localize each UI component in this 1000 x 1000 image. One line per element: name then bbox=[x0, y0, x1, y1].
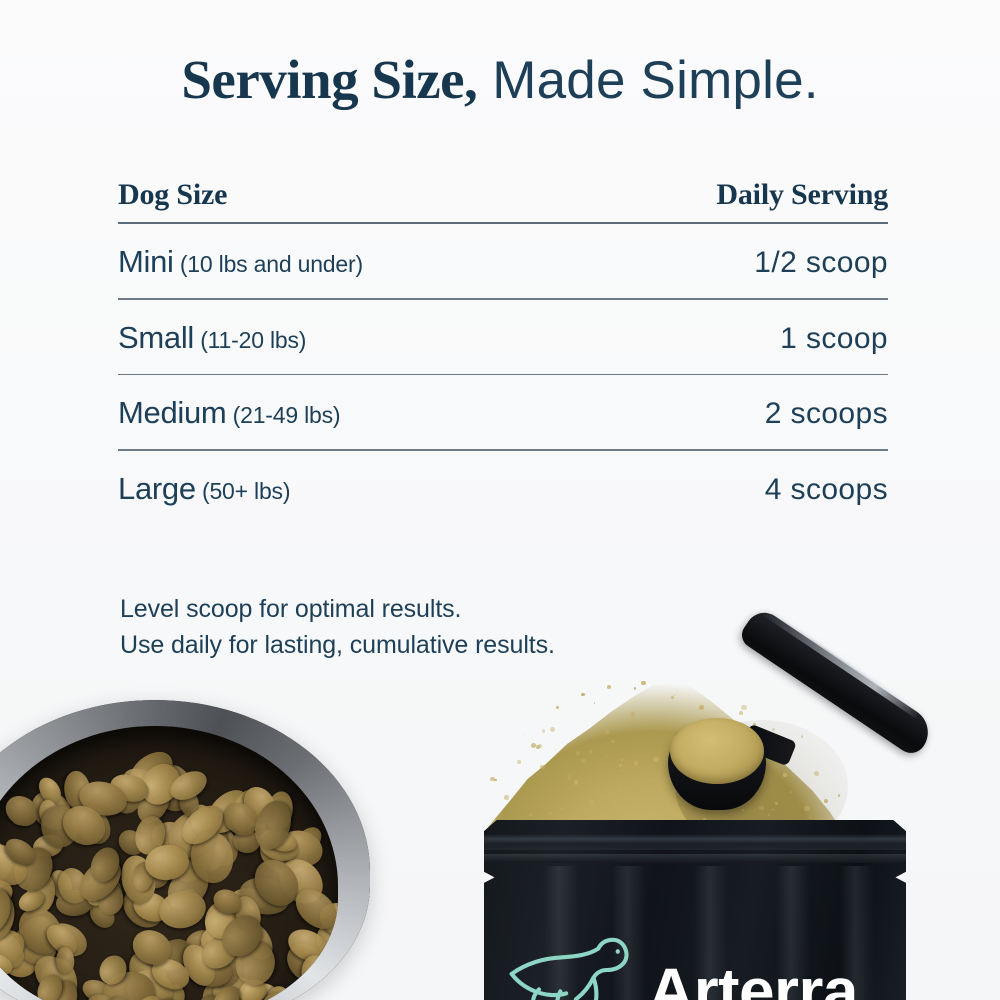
table-header-row: Dog Size Daily Serving bbox=[118, 178, 888, 222]
table-row: Small (11-20 lbs) 1 scoop bbox=[118, 300, 888, 374]
daily-serving-cell: 1/2 scoop bbox=[754, 246, 888, 280]
powder-speck bbox=[550, 727, 555, 732]
powder-speck bbox=[540, 765, 544, 769]
dog-size-range: (21-49 lbs) bbox=[226, 402, 340, 428]
column-header-dog-size: Dog Size bbox=[118, 178, 227, 212]
dog-size-range: (11-20 lbs) bbox=[194, 327, 306, 353]
powder-speck bbox=[581, 693, 584, 696]
column-header-daily-serving: Daily Serving bbox=[716, 178, 888, 212]
dog-size-cell: Small (11-20 lbs) bbox=[118, 320, 306, 356]
dog-size-name: Medium bbox=[118, 395, 226, 430]
pouch-top-seal bbox=[484, 834, 906, 850]
powder-speck bbox=[634, 719, 637, 722]
usage-note-line: Use daily for lasting, cumulative result… bbox=[120, 628, 555, 664]
kibble-pile bbox=[0, 756, 338, 1000]
powder-speck bbox=[594, 702, 595, 703]
page-title-bold: Serving Size, bbox=[181, 49, 477, 110]
usage-notes: Level scoop for optimal results. Use dai… bbox=[120, 592, 555, 663]
powder-speck bbox=[542, 729, 545, 732]
daily-serving-cell: 2 scoops bbox=[765, 397, 888, 431]
powder-speck bbox=[621, 759, 623, 761]
pouch-second-seal bbox=[484, 854, 906, 863]
page-title: Serving Size, Made Simple. bbox=[0, 52, 1000, 107]
serving-size-table: Dog Size Daily Serving Mini (10 lbs and … bbox=[118, 178, 888, 525]
page-title-light: Made Simple. bbox=[477, 51, 818, 110]
powder-speck bbox=[636, 759, 637, 760]
dog-line-art-icon bbox=[500, 931, 646, 1000]
dog-size-name: Mini bbox=[118, 244, 174, 279]
serving-size-infographic: Serving Size, Made Simple. Dog Size Dail… bbox=[0, 0, 1000, 1000]
dog-bowl-photo bbox=[0, 700, 370, 1000]
powder-speck bbox=[504, 795, 509, 800]
usage-note-line: Level scoop for optimal results. bbox=[120, 592, 555, 628]
powder-speck bbox=[622, 769, 625, 772]
table-row: Large (50+ lbs) 4 scoops bbox=[118, 451, 888, 525]
measuring-scoop-photo bbox=[640, 590, 970, 820]
powder-speck bbox=[517, 760, 520, 763]
powder-speck bbox=[634, 687, 636, 689]
powder-speck bbox=[605, 730, 609, 734]
dog-size-range: (10 lbs and under) bbox=[174, 251, 363, 277]
dog-size-name: Large bbox=[118, 471, 196, 506]
dog-size-cell: Medium (21-49 lbs) bbox=[118, 395, 340, 431]
powder-speck bbox=[538, 744, 542, 748]
table-row: Medium (21-49 lbs) 2 scoops bbox=[118, 375, 888, 449]
dog-size-name: Small bbox=[118, 320, 194, 355]
powder-speck bbox=[556, 706, 559, 709]
powder-speck bbox=[606, 755, 608, 757]
powder-speck bbox=[494, 779, 497, 782]
powder-speck bbox=[607, 685, 611, 689]
dog-size-cell: Large (50+ lbs) bbox=[118, 471, 290, 507]
powder-speck bbox=[549, 812, 552, 815]
product-pouch: Arterra bbox=[484, 820, 906, 1000]
brand-wordmark: Arterra bbox=[648, 959, 858, 1000]
powder-speck bbox=[523, 734, 524, 735]
dog-size-range: (50+ lbs) bbox=[196, 478, 291, 504]
daily-serving-cell: 1 scoop bbox=[780, 322, 888, 356]
bowl-interior bbox=[0, 726, 338, 1000]
scoop-powder-fill bbox=[670, 718, 764, 784]
dog-size-cell: Mini (10 lbs and under) bbox=[118, 244, 363, 280]
powder-speck bbox=[568, 775, 570, 777]
daily-serving-cell: 4 scoops bbox=[765, 473, 888, 507]
table-row: Mini (10 lbs and under) 1/2 scoop bbox=[118, 224, 888, 298]
powder-speck bbox=[581, 758, 586, 763]
